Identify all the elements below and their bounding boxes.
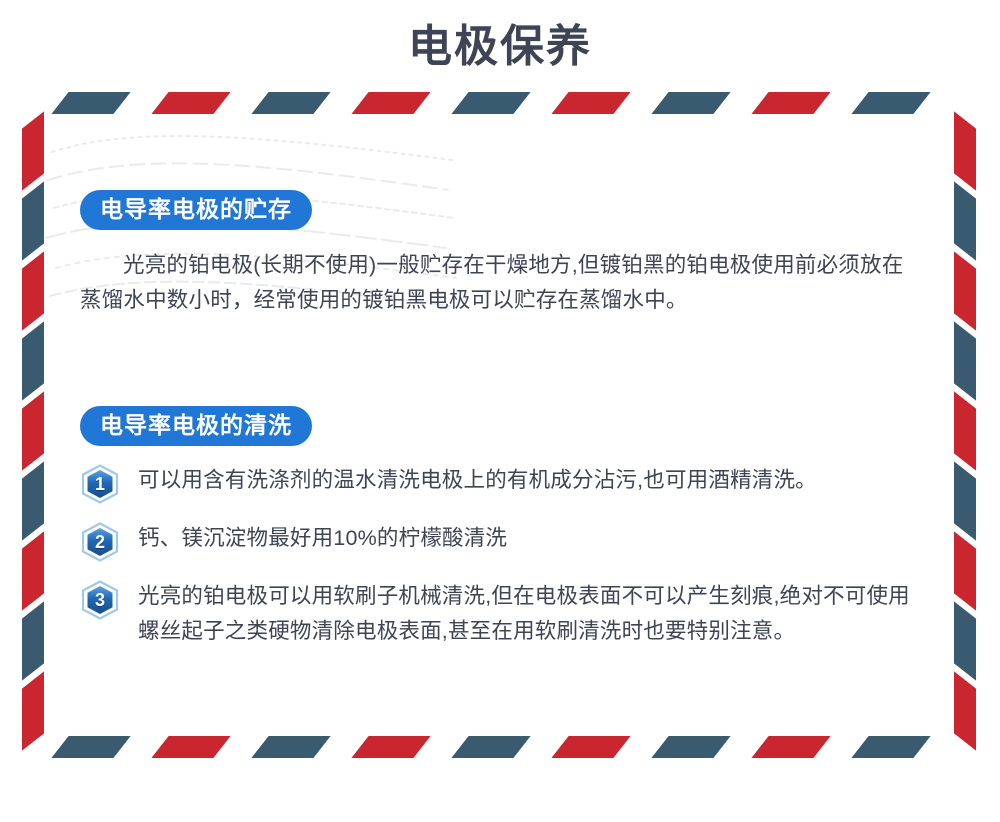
section-storage: 电导率电极的贮存 光亮的铂电极(长期不使用)一般贮存在干燥地方,但镀铂黑的铂电极… [80,190,920,318]
border-stripes-bottom [60,736,944,760]
border-stripe [954,461,976,540]
badge-number: 1 [80,464,120,504]
border-stripe [954,391,976,470]
border-stripe [51,92,130,114]
border-stripe [551,92,630,114]
list-item: 3 光亮的铂电极可以用软刷子机械清洗,但在电极表面不可以产生刻痕,绝对不可使用螺… [80,578,920,648]
border-stripe [551,736,630,758]
border-stripe [22,391,44,470]
hexagon-badge-icon: 2 [80,522,120,562]
border-stripes-left [22,120,46,732]
border-stripe [51,736,130,758]
border-stripe [851,92,930,114]
border-stripe [22,461,44,540]
border-stripe [22,531,44,610]
border-stripe [954,531,976,610]
border-stripe [954,111,976,190]
border-stripe [751,736,830,758]
border-stripe [851,736,930,758]
border-stripes-top [60,92,944,116]
border-stripe [151,736,230,758]
cleaning-steps-list: 1 可以用含有洗涤剂的温水清洗电极上的有机成分沾污,也可用酒精清洗。 2 [80,462,920,648]
border-stripe [351,736,430,758]
hexagon-badge-icon: 1 [80,464,120,504]
storage-paragraph: 光亮的铂电极(长期不使用)一般贮存在干燥地方,但镀铂黑的铂电极使用前必须放在蒸馏… [80,248,920,318]
border-stripe [751,92,830,114]
border-stripe [151,92,230,114]
border-stripe [954,601,976,680]
airmail-card: 电导率电极的贮存 光亮的铂电极(长期不使用)一般贮存在干燥地方,但镀铂黑的铂电极… [22,92,978,760]
border-stripe [22,181,44,260]
border-stripe [451,92,530,114]
border-stripe [251,736,330,758]
card-content: 电导率电极的贮存 光亮的铂电极(长期不使用)一般贮存在干燥地方,但镀铂黑的铂电极… [80,134,920,718]
border-stripe [22,321,44,400]
border-stripe [954,251,976,330]
step-text: 钙、镁沉淀物最好用10%的柠檬酸清洗 [138,520,920,555]
border-stripe [954,671,976,750]
section-cleaning: 电导率电极的清洗 [80,406,920,664]
hexagon-badge-icon: 3 [80,580,120,620]
step-text: 可以用含有洗涤剂的温水清洗电极上的有机成分沾污,也可用酒精清洗。 [138,462,920,497]
border-stripe [651,92,730,114]
border-stripe [351,92,430,114]
border-stripes-right [954,120,978,732]
list-item: 1 可以用含有洗涤剂的温水清洗电极上的有机成分沾污,也可用酒精清洗。 [80,462,920,504]
border-stripe [451,736,530,758]
page-title: 电极保养 [0,18,1000,75]
badge-number: 2 [80,522,120,562]
section-heading-storage: 电导率电极的贮存 [80,190,312,230]
border-stripe [651,736,730,758]
border-stripe [954,181,976,260]
border-stripe [22,601,44,680]
list-item: 2 钙、镁沉淀物最好用10%的柠檬酸清洗 [80,520,920,562]
border-stripe [22,111,44,190]
border-stripe [22,671,44,750]
section-heading-cleaning: 电导率电极的清洗 [80,406,312,446]
border-stripe [22,251,44,330]
poster-page: 电极保养 电导率电极的贮存 光亮的铂电极(长期不使用)一般贮存在干燥地方,但镀铂… [0,0,1000,822]
step-text: 光亮的铂电极可以用软刷子机械清洗,但在电极表面不可以产生刻痕,绝对不可使用螺丝起… [138,578,920,648]
border-stripe [251,92,330,114]
badge-number: 3 [80,580,120,620]
border-stripe [954,321,976,400]
